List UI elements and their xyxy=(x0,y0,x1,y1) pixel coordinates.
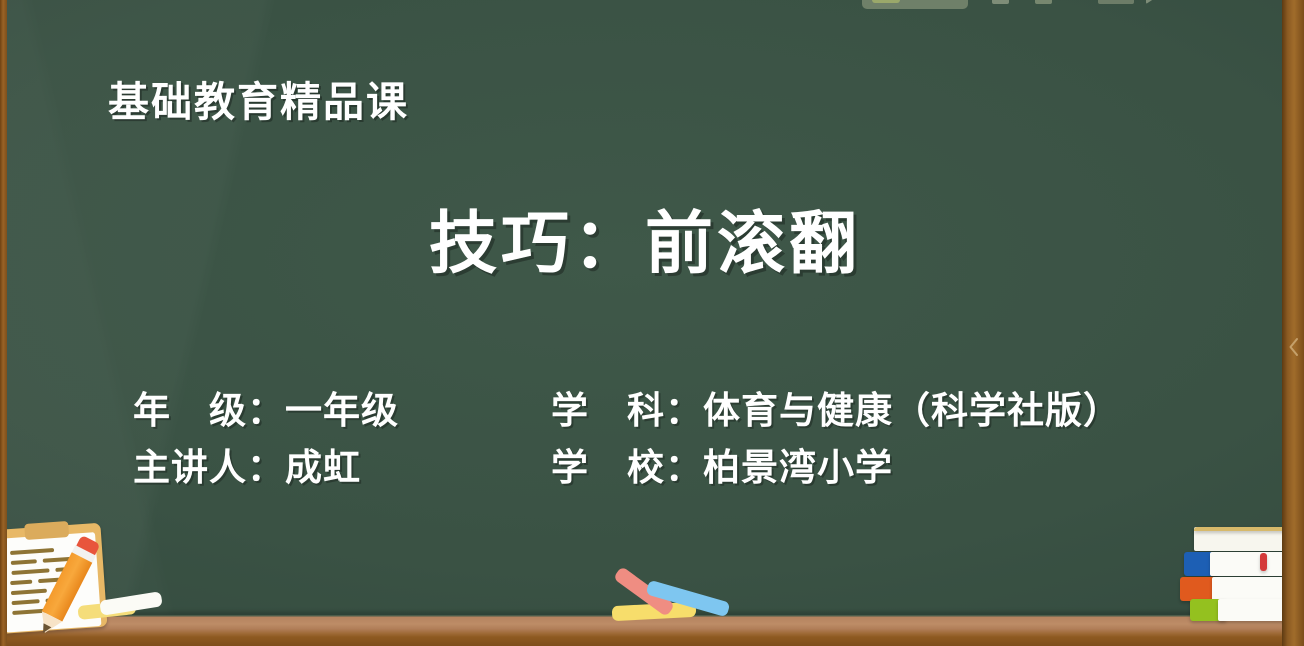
player-toolbar-fragment xyxy=(0,0,1304,10)
info-row: 年 级：一年级 学 科：体育与健康（科学社版） xyxy=(0,380,1304,437)
progress-bar[interactable] xyxy=(1098,0,1134,4)
screen-icon[interactable] xyxy=(992,0,1009,4)
board-frame-left xyxy=(0,0,7,646)
play-icon[interactable] xyxy=(1146,0,1156,4)
chevron-left-icon[interactable] xyxy=(1283,330,1303,364)
info-subject: 学 科：体育与健康（科学社版） xyxy=(551,380,1121,434)
info-grade: 年 级：一年级 xyxy=(133,380,399,434)
info-presenter: 主讲人：成虹 xyxy=(133,437,361,491)
slide-title: 技巧：前滚翻 xyxy=(0,188,1290,287)
info-row: 主讲人：成虹 学 校：柏景湾小学 xyxy=(0,437,1304,494)
slide-kicker: 基础教育精品课 xyxy=(108,68,409,128)
slide-screen: 基础教育精品课 技巧：前滚翻 年 级：一年级 学 科：体育与健康（科学社版） 主… xyxy=(0,0,1304,646)
volume-icon[interactable] xyxy=(1035,0,1052,4)
toolbar-pill-highlight xyxy=(872,0,900,3)
board-frame-right xyxy=(1282,0,1304,646)
chalk-ledge xyxy=(0,615,1304,646)
info-school: 学 校：柏景湾小学 xyxy=(551,437,893,491)
slide-info-block: 年 级：一年级 学 科：体育与健康（科学社版） 主讲人：成虹 学 校：柏景湾小学 xyxy=(0,380,1304,494)
